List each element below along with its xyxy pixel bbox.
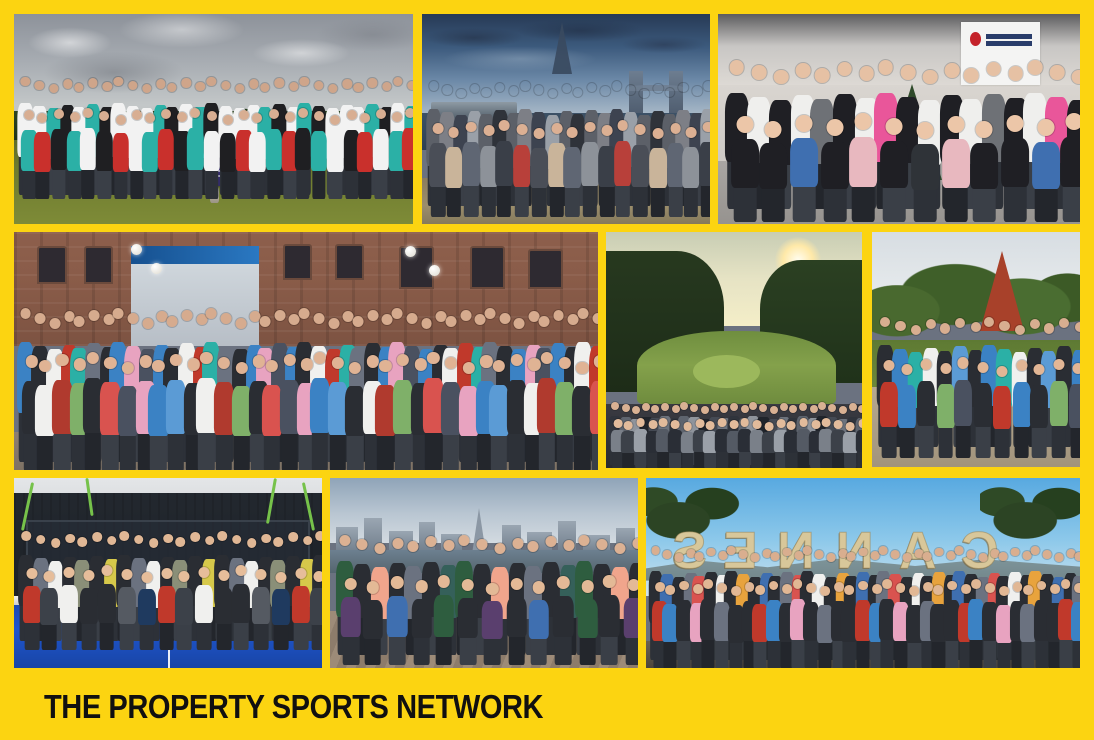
person [82, 570, 96, 650]
person [739, 418, 750, 468]
person [509, 354, 525, 470]
person [120, 569, 134, 650]
person [365, 581, 381, 665]
person [601, 125, 615, 216]
person [970, 579, 983, 668]
person [264, 360, 280, 470]
person [484, 583, 500, 666]
person [894, 583, 907, 668]
person [1059, 579, 1072, 668]
person [52, 109, 65, 200]
collage-photo-rugby-team [14, 14, 413, 224]
person [177, 571, 191, 650]
person [845, 422, 856, 468]
person [932, 585, 945, 668]
person [702, 579, 715, 668]
person [734, 116, 756, 222]
person [251, 113, 264, 199]
person [798, 418, 809, 468]
person [389, 576, 405, 665]
person [664, 585, 677, 668]
collage-photo-brick-building-crowd [14, 232, 598, 470]
person [25, 568, 39, 650]
people-group [422, 81, 710, 211]
person [995, 366, 1009, 459]
person [461, 362, 477, 470]
shard-building [552, 22, 572, 74]
person [343, 578, 359, 666]
person [426, 352, 442, 470]
person [819, 586, 832, 668]
person [900, 364, 914, 458]
person [824, 119, 846, 222]
person [378, 360, 394, 470]
person [984, 583, 997, 668]
person [274, 572, 288, 650]
person [717, 418, 728, 468]
person [139, 572, 153, 650]
person [751, 420, 762, 468]
people-group [718, 60, 1080, 215]
person [651, 128, 665, 217]
person [414, 580, 430, 665]
collage-photo-park-group [872, 232, 1080, 467]
person [555, 576, 571, 665]
person [580, 580, 596, 665]
person [623, 421, 634, 468]
person [216, 357, 232, 470]
person [753, 585, 766, 668]
person [919, 359, 933, 458]
person [312, 352, 328, 470]
person [729, 586, 742, 668]
person [395, 354, 411, 470]
photo-collage: S E N N A C [0, 0, 1094, 678]
person [62, 567, 76, 650]
person [358, 113, 371, 199]
person [682, 422, 693, 468]
person [539, 352, 555, 470]
person [294, 568, 308, 650]
person [805, 583, 818, 668]
person [881, 579, 894, 668]
person [1071, 363, 1080, 458]
person [98, 111, 111, 199]
person [670, 420, 681, 468]
person [616, 120, 630, 216]
collage-photo-indoor-christmas [718, 14, 1080, 224]
person [347, 362, 363, 470]
people-group [330, 535, 638, 660]
person [432, 123, 446, 217]
collage-photo-riverside-run [330, 478, 638, 668]
person [550, 123, 564, 217]
person [998, 586, 1011, 668]
person [669, 123, 683, 217]
person [443, 357, 459, 470]
people-group [14, 531, 322, 645]
person [763, 422, 774, 468]
person [843, 585, 856, 668]
page-title: THE PROPERTY SPORTS NETWORK [44, 688, 543, 726]
person [313, 111, 326, 199]
person [974, 121, 996, 222]
person [915, 122, 937, 221]
person [1022, 585, 1035, 668]
person [160, 109, 173, 200]
person [820, 418, 831, 468]
person [329, 115, 342, 200]
person [42, 571, 56, 650]
person [159, 568, 173, 650]
person [509, 578, 525, 666]
person [497, 120, 511, 216]
person [601, 575, 617, 665]
person [684, 127, 698, 217]
person [1005, 115, 1027, 222]
person [460, 579, 476, 666]
person [464, 122, 478, 217]
person [704, 421, 715, 468]
person [565, 127, 579, 217]
person [120, 362, 136, 470]
person [254, 569, 268, 650]
person [296, 108, 309, 200]
people-group [14, 77, 413, 195]
person [532, 128, 546, 217]
person [217, 570, 231, 650]
person [515, 124, 529, 216]
person [55, 354, 71, 470]
person [482, 125, 496, 216]
person [592, 355, 598, 470]
person [234, 565, 248, 649]
person [222, 115, 235, 200]
person [833, 420, 844, 468]
person [716, 583, 729, 668]
person [330, 357, 346, 470]
person [793, 115, 815, 222]
banner-footer: THE PROPERTY SPORTS NETWORK [0, 678, 1094, 740]
person [1036, 119, 1058, 222]
person [767, 581, 780, 668]
person [786, 421, 797, 468]
person [956, 357, 970, 458]
collage-photo-padel-court [14, 478, 322, 668]
person [103, 357, 119, 470]
person [436, 575, 452, 665]
person [1052, 359, 1066, 458]
person [312, 571, 322, 650]
person [189, 108, 202, 200]
person [657, 418, 668, 468]
person [267, 109, 280, 200]
person [702, 122, 710, 217]
person [857, 419, 862, 468]
person [1032, 364, 1046, 458]
person [857, 581, 870, 668]
people-group [872, 317, 1080, 453]
person [531, 581, 547, 665]
person [150, 360, 166, 470]
person [234, 362, 250, 470]
person [114, 115, 127, 200]
person [282, 354, 298, 470]
person [197, 567, 211, 650]
person [375, 109, 388, 200]
person [143, 113, 156, 199]
person [447, 127, 461, 217]
person [205, 111, 218, 199]
event-banner: S E N N A C THE PROPERTY SPORTS NETWORK [0, 0, 1094, 740]
person [882, 360, 896, 458]
person [100, 565, 114, 649]
person [82, 108, 95, 200]
person [678, 581, 691, 668]
person [198, 352, 214, 470]
people-group [606, 402, 862, 468]
person [404, 108, 413, 200]
person [635, 418, 646, 468]
person [1015, 360, 1029, 458]
person [1035, 581, 1048, 668]
person [946, 581, 959, 668]
collage-photo-golf-course [606, 232, 862, 468]
person [946, 116, 968, 222]
person [791, 579, 804, 668]
person [557, 357, 573, 470]
person [762, 121, 784, 222]
person [1073, 583, 1080, 668]
person [908, 586, 921, 668]
person [633, 124, 647, 216]
person [85, 352, 101, 470]
person [976, 362, 990, 459]
person [574, 362, 590, 470]
collage-photo-london-river-run [422, 14, 710, 224]
people-group [14, 308, 598, 465]
collage-photo-cannes-sign: S E N N A C [646, 478, 1080, 668]
person [491, 360, 507, 470]
person [583, 122, 597, 217]
people-group [646, 546, 1080, 664]
person [36, 113, 49, 199]
person [883, 118, 905, 222]
person [939, 363, 953, 458]
person [852, 113, 874, 222]
person [1064, 113, 1080, 222]
putting-green [693, 355, 760, 388]
person [626, 579, 638, 666]
person [37, 360, 53, 470]
person [168, 354, 184, 470]
